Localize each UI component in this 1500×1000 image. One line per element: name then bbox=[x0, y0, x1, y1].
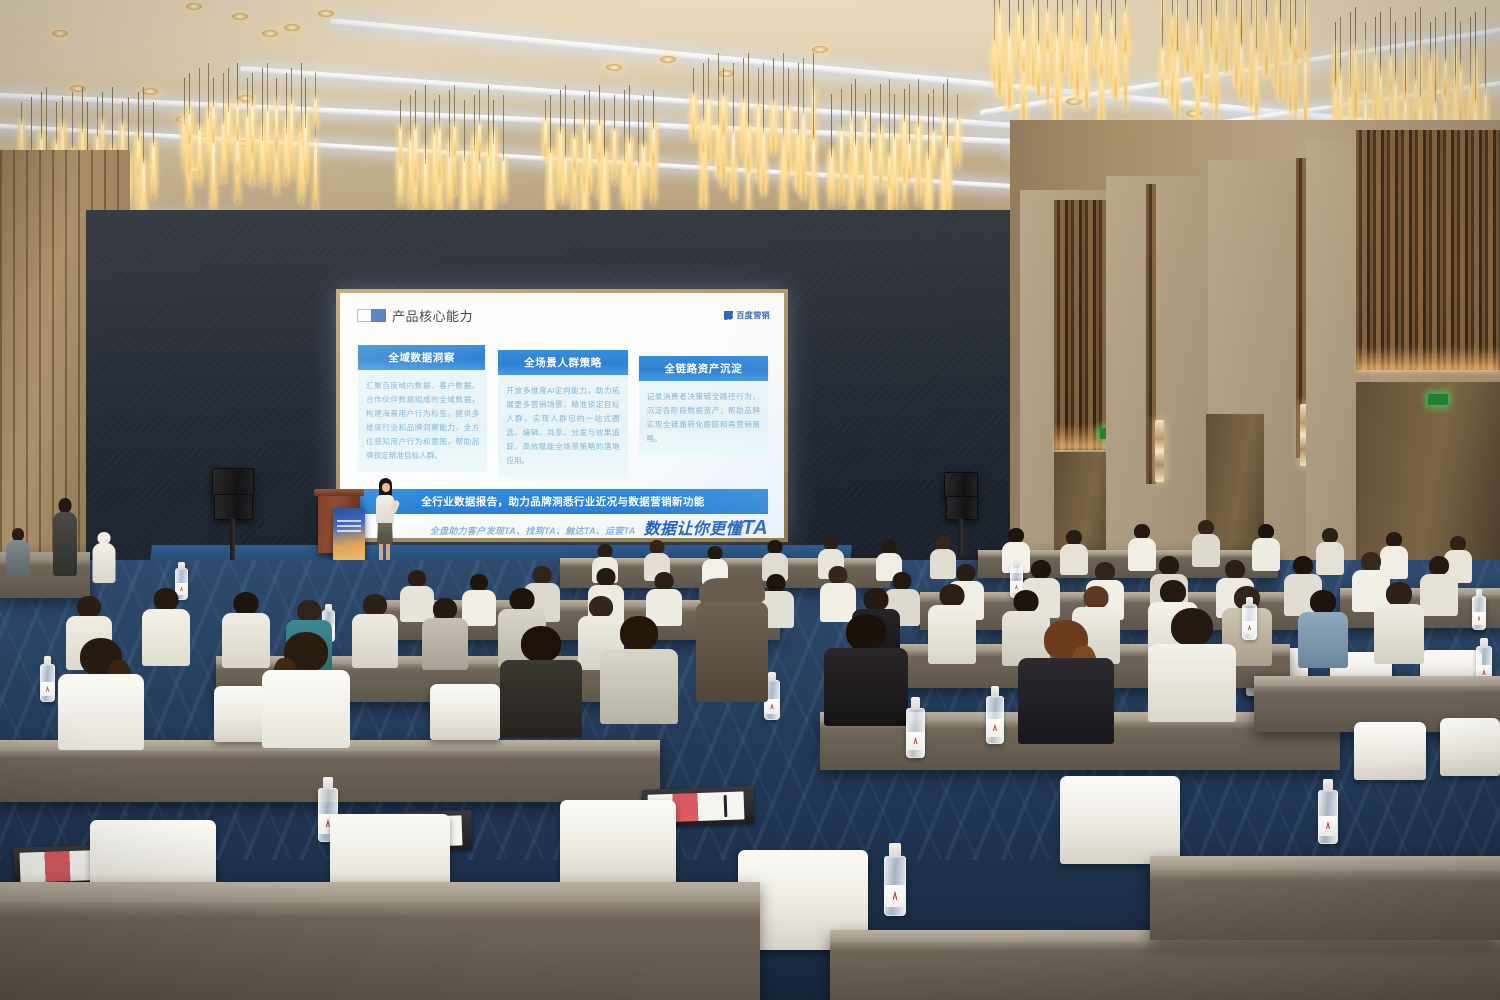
person-body bbox=[6, 540, 30, 576]
chair bbox=[1440, 718, 1500, 776]
recessed-downlight bbox=[606, 64, 622, 71]
baidu-paw-icon bbox=[724, 311, 733, 320]
speaker-stand-left bbox=[230, 518, 235, 566]
chair bbox=[560, 800, 676, 888]
person-body bbox=[58, 674, 144, 750]
tagline-large: 数据让你更懂TA bbox=[644, 515, 768, 538]
pa-speaker-left bbox=[212, 468, 254, 496]
attendee bbox=[824, 614, 908, 726]
column-heading: 全域数据洞察 bbox=[358, 345, 485, 370]
crystal-chandelier bbox=[990, 0, 1130, 128]
crystal-chandelier bbox=[1160, 0, 1310, 122]
recessed-downlight bbox=[660, 56, 676, 63]
attendee bbox=[142, 588, 190, 666]
recessed-downlight bbox=[812, 46, 828, 53]
tagline-large-text: 数据让你更懂 bbox=[644, 521, 742, 538]
attendee-table-front bbox=[1150, 856, 1500, 940]
attendee bbox=[262, 632, 350, 748]
attendee bbox=[1374, 582, 1424, 664]
exit-sign-right bbox=[1428, 394, 1448, 405]
pa-speaker-left bbox=[214, 494, 253, 520]
wall-slat-block bbox=[1356, 130, 1500, 370]
page-title: 产品核心能力 bbox=[392, 306, 473, 325]
person-body bbox=[93, 543, 116, 583]
recessed-downlight bbox=[718, 70, 734, 77]
column-body: 开放多维度AI定向能力，助力拓展更多营销场景，精准锁定目标人群，实现人群包的一站… bbox=[498, 375, 627, 477]
slide-title-row: 产品核心能力 bbox=[357, 306, 473, 325]
person-head bbox=[521, 626, 561, 662]
standing-attendee bbox=[52, 498, 78, 576]
column-body: 汇聚百度域内数据、客户数据、合作伙伴数据组成的全域数据，构建海量用户行为标签，提… bbox=[358, 370, 487, 472]
person-body bbox=[500, 660, 582, 738]
presenter bbox=[372, 478, 398, 560]
attendee-table-front bbox=[830, 930, 1500, 1000]
person-head bbox=[846, 614, 886, 650]
brand-logo-text: 百度营销 bbox=[736, 310, 770, 321]
standing-attendee bbox=[92, 532, 116, 582]
chair bbox=[1060, 776, 1180, 864]
slide-banner: 全行业数据报告，助力品牌洞悉行业近况与数据营销新功能 bbox=[358, 489, 768, 514]
event-banner-stand bbox=[333, 508, 365, 564]
recessed-downlight bbox=[52, 30, 68, 37]
person-body bbox=[262, 670, 350, 748]
crystal-chandelier bbox=[690, 86, 818, 210]
water-bottle bbox=[1242, 604, 1257, 640]
attendee bbox=[500, 626, 582, 738]
title-square-outline-icon bbox=[357, 309, 372, 322]
capability-column: 全域数据洞察 汇聚百度域内数据、客户数据、合作伙伴数据组成的全域数据，构建海量用… bbox=[358, 345, 487, 472]
recessed-downlight bbox=[70, 85, 86, 92]
person-body bbox=[824, 648, 908, 726]
brand-logo: 百度营销 bbox=[724, 310, 770, 321]
conference-room-photo: 产品核心能力 百度营销 全域数据洞察 汇聚百度域内数据、客户数据、合作伙伴数据组… bbox=[0, 0, 1500, 1000]
slat-uplight-glow bbox=[1356, 346, 1500, 372]
tagline-ta: TA bbox=[742, 517, 768, 538]
attendee bbox=[58, 638, 144, 750]
wall-slat-block bbox=[1054, 200, 1114, 450]
water-bottle bbox=[986, 696, 1004, 744]
crystal-chandelier bbox=[398, 118, 508, 222]
presenter-leg bbox=[379, 544, 383, 560]
recessed-downlight bbox=[142, 88, 158, 95]
presenter-face bbox=[382, 483, 390, 492]
crystal-chandelier bbox=[830, 112, 962, 222]
recessed-downlight bbox=[232, 13, 248, 20]
recessed-downlight bbox=[318, 10, 334, 17]
attendee bbox=[352, 594, 398, 668]
water-bottle bbox=[1318, 790, 1338, 844]
water-bottle bbox=[884, 856, 906, 916]
recessed-downlight bbox=[186, 3, 202, 10]
water-bottle bbox=[1472, 596, 1486, 630]
capability-column: 全链路资产沉淀 记录消费者决策链全路径行为，沉淀各阶段数据资产，帮助品牌实现全链… bbox=[639, 356, 768, 455]
recessed-downlight bbox=[262, 30, 278, 37]
person-hat bbox=[699, 578, 765, 604]
attendee bbox=[1148, 608, 1236, 722]
attendee bbox=[1420, 556, 1458, 616]
water-bottle bbox=[40, 664, 55, 702]
person-head bbox=[620, 616, 658, 651]
recessed-downlight bbox=[284, 24, 300, 31]
title-square-filled-icon bbox=[371, 309, 386, 322]
slide-tagline-row: 全盘助力客户发现TA、找到TA、触达TA、运营TA 数据让你更懂TA bbox=[368, 515, 768, 538]
attendee bbox=[600, 616, 678, 724]
person-head bbox=[1171, 608, 1213, 646]
column-heading: 全链路资产沉淀 bbox=[639, 356, 768, 381]
crystal-chandelier bbox=[180, 96, 320, 200]
person-head bbox=[59, 498, 72, 513]
column-body: 记录消费者决策链全路径行为，沉淀各阶段数据资产，帮助品牌实现全链路转化跟踪和再营… bbox=[639, 381, 768, 455]
attendee bbox=[1298, 590, 1348, 668]
pa-speaker-right bbox=[944, 472, 978, 498]
attendee-table-front bbox=[0, 882, 760, 1000]
column-heading: 全场景人群策略 bbox=[498, 350, 627, 375]
lectern-top bbox=[314, 489, 364, 496]
chair bbox=[1354, 722, 1426, 780]
attendee bbox=[1018, 620, 1114, 744]
person-body bbox=[1148, 644, 1236, 722]
pa-speaker-right bbox=[946, 496, 978, 520]
water-bottle bbox=[906, 708, 925, 758]
attendee bbox=[1060, 530, 1088, 574]
presenter-skirt bbox=[377, 523, 393, 545]
tagline-small: 全盘助力客户发现TA、找到TA、触达TA、运营TA bbox=[430, 524, 636, 537]
attendee bbox=[422, 598, 468, 670]
seated-attendee bbox=[6, 528, 30, 576]
person-body bbox=[696, 602, 768, 702]
person-body bbox=[53, 512, 77, 576]
chair bbox=[430, 684, 500, 740]
attendee-with-hat bbox=[694, 578, 770, 702]
presentation-slide: 产品核心能力 百度营销 全域数据洞察 汇聚百度域内数据、客户数据、合作伙伴数据组… bbox=[340, 293, 784, 538]
projection-screen: 产品核心能力 百度营销 全域数据洞察 汇聚百度域内数据、客户数据、合作伙伴数据组… bbox=[336, 289, 788, 542]
capability-columns: 全域数据洞察 汇聚百度域内数据、客户数据、合作伙伴数据组成的全域数据，构建海量用… bbox=[358, 345, 768, 477]
attendee bbox=[928, 584, 976, 664]
capability-column: 全场景人群策略 开放多维度AI定向能力，助力拓展更多营销场景，精准锁定目标人群，… bbox=[498, 350, 627, 477]
attendee bbox=[1252, 524, 1280, 570]
person-body bbox=[600, 649, 678, 724]
presenter-leg bbox=[386, 544, 390, 560]
person-body bbox=[1018, 658, 1114, 744]
wall-sconce bbox=[1155, 420, 1164, 482]
